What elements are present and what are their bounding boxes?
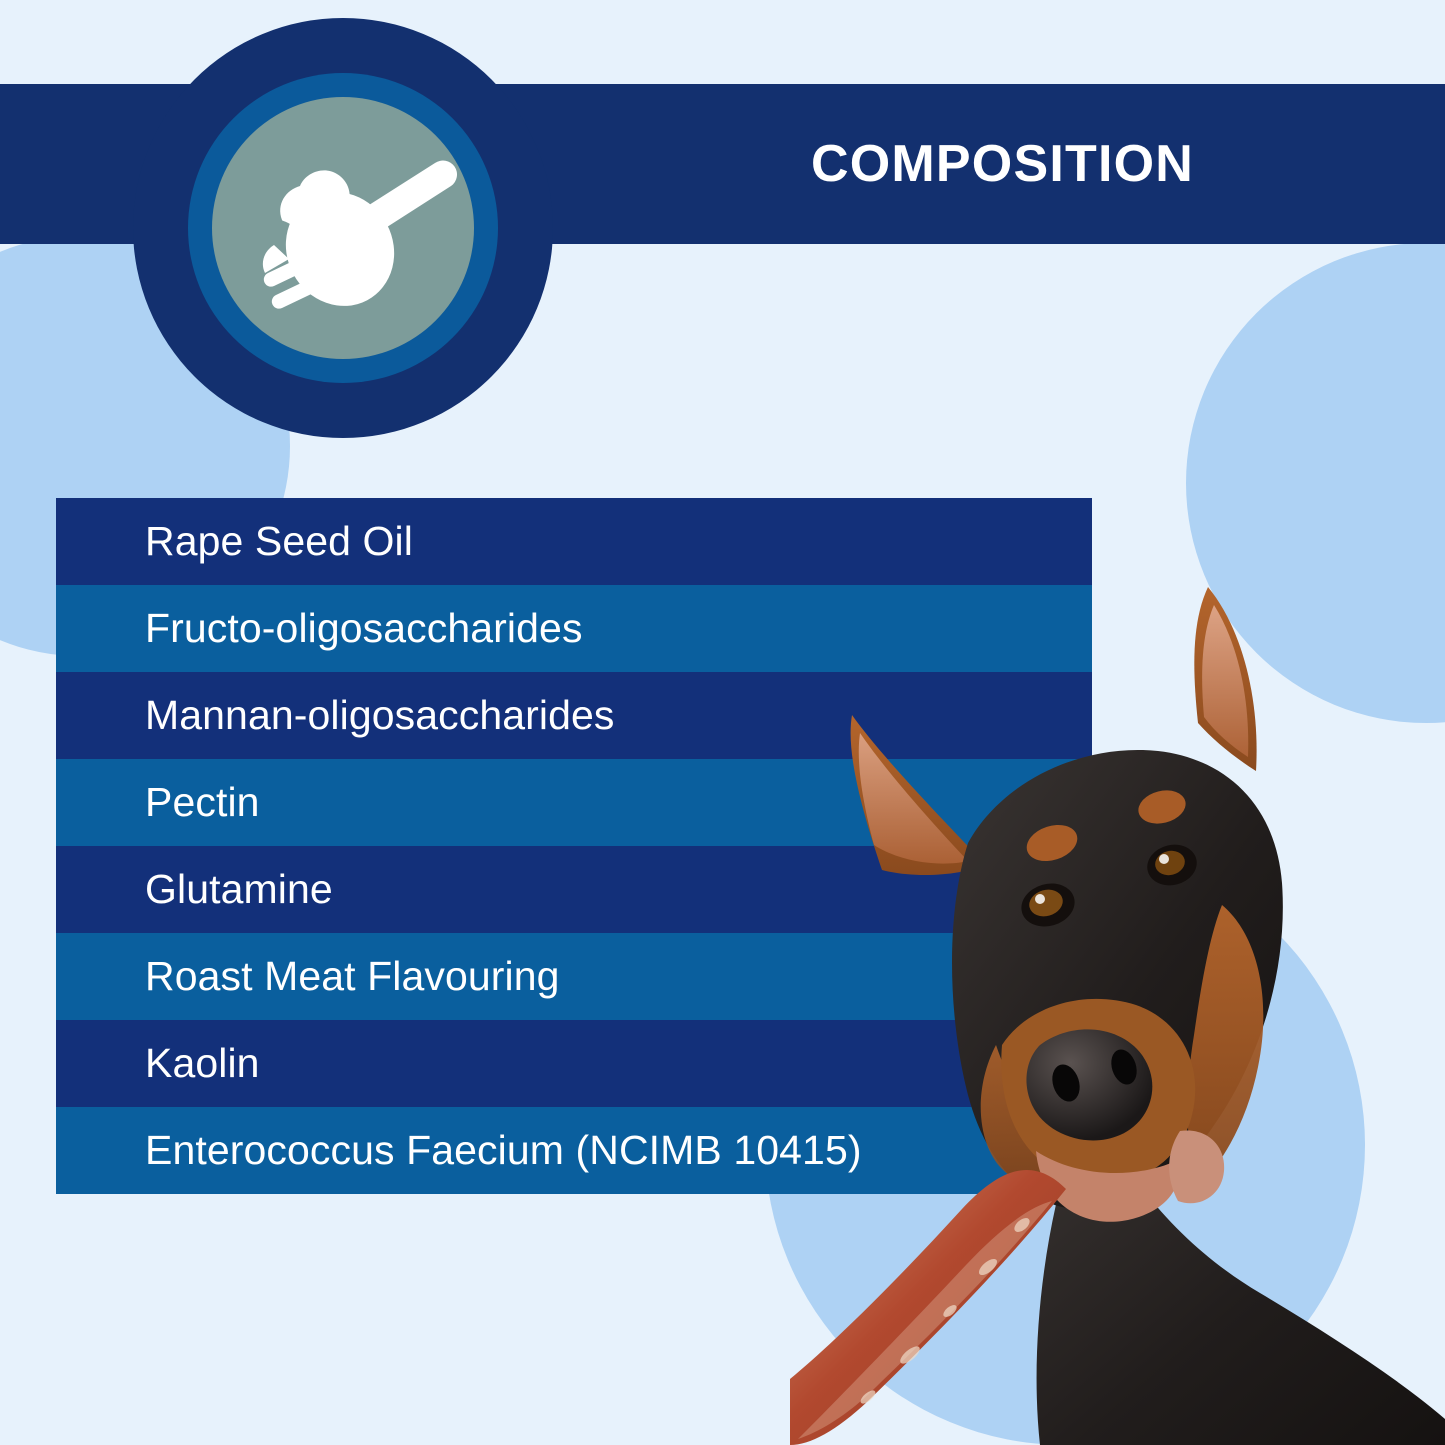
ingredient-label: Enterococcus Faecium (NCIMB 10415) — [145, 1127, 862, 1174]
ingredient-row: Mannan-oligosaccharides — [56, 672, 1092, 759]
spoon-with-food-icon — [212, 97, 474, 359]
ingredient-row: Fructo-oligosaccharides — [56, 585, 1092, 672]
decorative-circle-right — [1186, 243, 1445, 723]
ingredient-row: Rape Seed Oil — [56, 498, 1092, 585]
composition-infographic: COMPOSITION Rape Seed OilFructo-oligosac… — [0, 0, 1445, 1445]
ingredient-label: Rape Seed Oil — [145, 518, 413, 565]
ingredient-label: Roast Meat Flavouring — [145, 953, 560, 1000]
ingredient-row: Enterococcus Faecium (NCIMB 10415) — [56, 1107, 1092, 1194]
ingredient-label: Fructo-oligosaccharides — [145, 605, 583, 652]
ingredient-label: Pectin — [145, 779, 260, 826]
ingredient-row: Pectin — [56, 759, 1092, 846]
ingredient-row: Kaolin — [56, 1020, 1092, 1107]
ingredient-label: Kaolin — [145, 1040, 260, 1087]
ingredient-row: Roast Meat Flavouring — [56, 933, 1092, 1020]
ingredient-list: Rape Seed OilFructo-oligosaccharidesMann… — [56, 498, 1092, 1194]
ingredient-label: Glutamine — [145, 866, 333, 913]
ingredient-label: Mannan-oligosaccharides — [145, 692, 615, 739]
ingredient-row: Glutamine — [56, 846, 1092, 933]
page-title: COMPOSITION — [560, 84, 1445, 244]
